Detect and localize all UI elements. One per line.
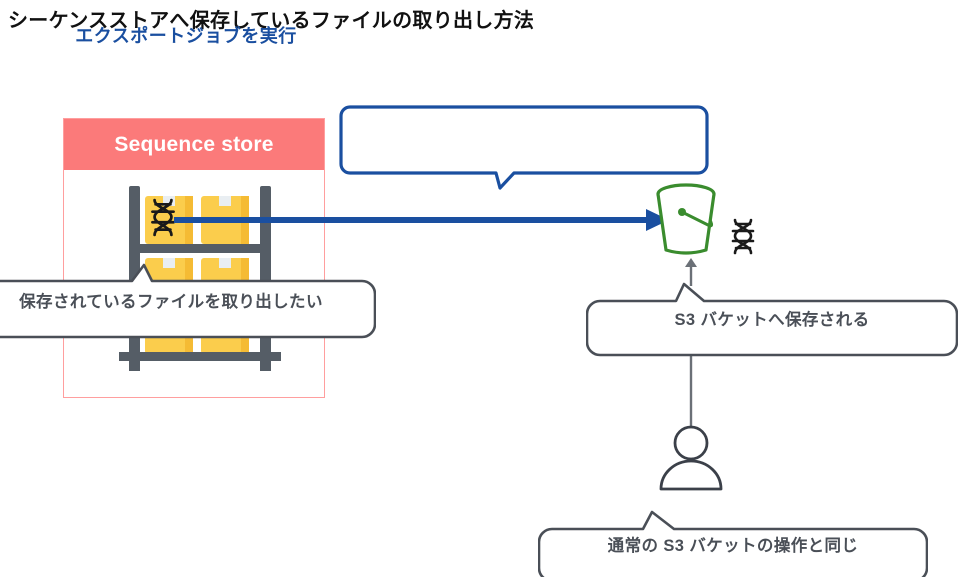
user-person-icon xyxy=(655,425,727,491)
sequence-store-label: Sequence store xyxy=(114,133,273,157)
callout-retrieve-file-text: 保存されているファイルを取り出したい xyxy=(0,288,376,312)
callout-export-job-text: エクスポートジョブを実行 xyxy=(0,22,372,48)
diagram-canvas: シーケンスストアへ保存しているファイルの取り出し方法 Sequence stor… xyxy=(0,0,960,577)
callout-export-job xyxy=(338,104,710,192)
export-job-arrow xyxy=(170,206,670,234)
callout-s3-saved-text: S3 バケットへ保存される xyxy=(586,306,958,330)
dna-helix-icon xyxy=(728,218,758,256)
sequence-store-header: Sequence store xyxy=(64,119,324,170)
connector-person-line xyxy=(678,352,704,430)
s3-bucket-icon xyxy=(652,182,720,258)
callout-same-as-normal-text: 通常の S3 バケットの操作と同じ xyxy=(538,532,928,556)
